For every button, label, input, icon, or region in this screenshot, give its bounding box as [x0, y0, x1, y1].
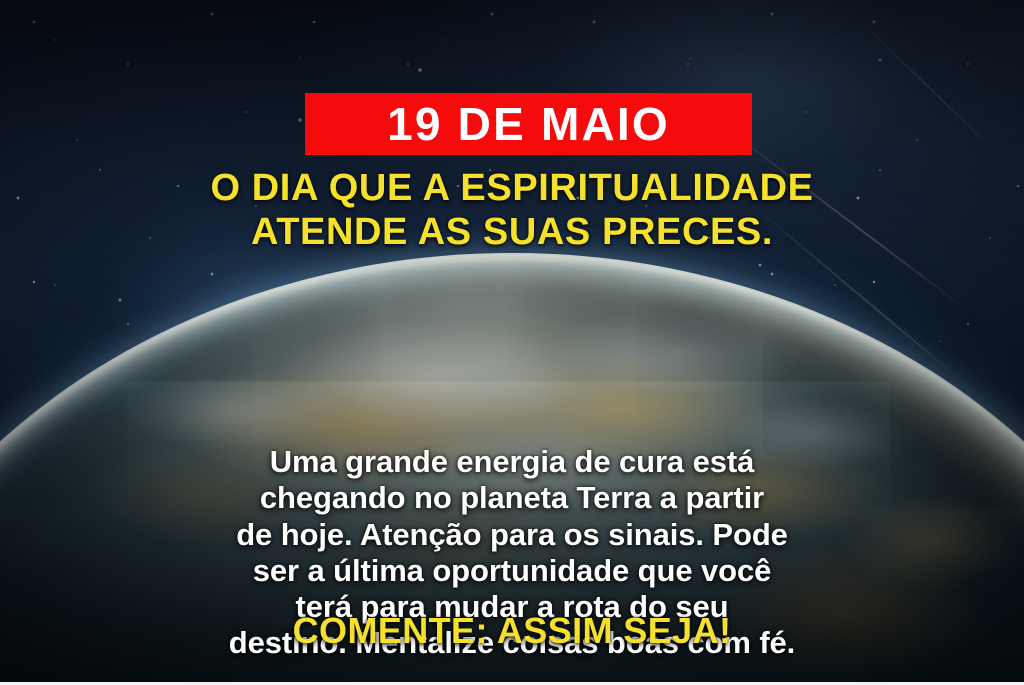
- poster-canvas: 19 DE MAIO O DIA QUE A ESPIRITUALIDADE A…: [0, 0, 1024, 685]
- headline: O DIA QUE A ESPIRITUALIDADE ATENDE AS SU…: [0, 166, 1024, 254]
- body-line-2: chegando no planeta Terra a partir: [0, 480, 1024, 516]
- date-banner: 19 DE MAIO: [305, 93, 752, 155]
- date-banner-text: 19 DE MAIO: [387, 101, 670, 147]
- body-line-3: de hoje. Atenção para os sinais. Pode: [0, 517, 1024, 553]
- comment-call-to-action: COMENTE: ASSIM SEJA!: [0, 613, 1024, 649]
- body-line-1: Uma grande energia de cura está: [0, 444, 1024, 480]
- poster-content: 19 DE MAIO O DIA QUE A ESPIRITUALIDADE A…: [0, 0, 1024, 685]
- headline-line-1: O DIA QUE A ESPIRITUALIDADE: [0, 166, 1024, 210]
- body-line-4: ser a última oportunidade que você: [0, 553, 1024, 589]
- headline-line-2: ATENDE AS SUAS PRECES.: [0, 210, 1024, 254]
